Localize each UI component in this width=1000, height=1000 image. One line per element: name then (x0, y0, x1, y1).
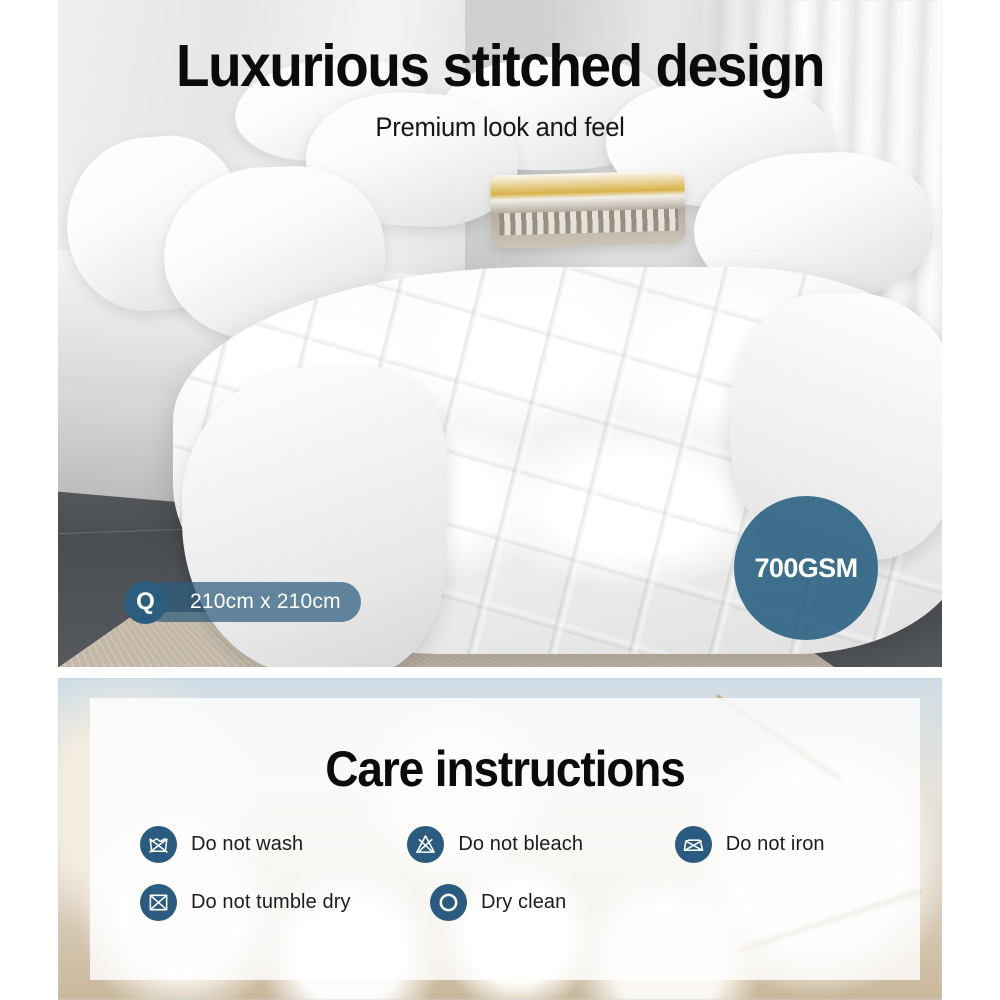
hero-panel: Luxurious stitched design Premium look a… (58, 0, 942, 667)
care-item-label: Do not iron (726, 833, 825, 856)
do-not-wash-icon (140, 826, 177, 863)
do-not-iron-icon (675, 826, 712, 863)
care-card: Care instructions Do not wash (90, 698, 920, 980)
gsm-badge: 700GSM (734, 496, 878, 640)
care-row: Do not wash Do not bleach (140, 826, 896, 863)
do-not-tumble-dry-icon (140, 884, 177, 921)
size-dimensions-label: 210cm x 210cm (142, 582, 361, 622)
page-subtitle: Premium look and feel (80, 112, 920, 143)
care-title: Care instructions (123, 740, 887, 798)
care-item-label: Do not bleach (458, 833, 583, 856)
care-row: Do not tumble dry Dry clean (140, 884, 896, 921)
page-title: Luxurious stitched design (89, 32, 911, 100)
care-item-do-not-wash: Do not wash (140, 826, 407, 863)
care-item-label: Do not wash (191, 833, 303, 856)
care-items-grid: Do not wash Do not bleach (140, 826, 896, 921)
care-instructions-panel: Care instructions Do not wash (58, 678, 942, 1000)
accent-cushion (490, 171, 686, 249)
care-item-label: Dry clean (481, 891, 566, 914)
care-item-do-not-tumble-dry: Do not tumble dry (140, 884, 430, 921)
care-item-do-not-bleach: Do not bleach (407, 826, 674, 863)
care-item-label: Do not tumble dry (191, 891, 351, 914)
dry-clean-icon (430, 884, 467, 921)
size-code-circle: Q (124, 581, 167, 624)
care-item-do-not-iron: Do not iron (675, 826, 896, 863)
size-badge: 210cm x 210cm Q (124, 582, 167, 622)
care-item-dry-clean: Dry clean (430, 884, 720, 921)
product-marketing-banner: Luxurious stitched design Premium look a… (0, 0, 1000, 1000)
do-not-bleach-icon (407, 826, 444, 863)
